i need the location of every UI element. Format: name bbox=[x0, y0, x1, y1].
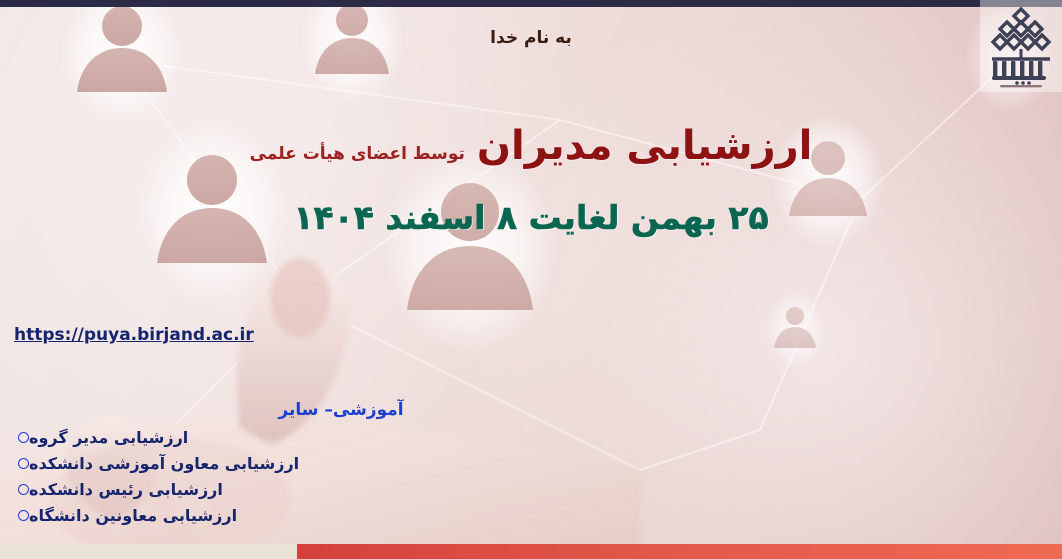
bullet-circle-icon bbox=[18, 510, 29, 521]
date-range-text: ۲۵ بهمن لغایت ۸ اسفند ۱۴۰۴ bbox=[150, 198, 912, 237]
list-item-label: ارزشیابی مدیر گروه bbox=[29, 428, 188, 447]
title-row: ارزشیابی مدیران توسط اعضای هیأت علمی bbox=[150, 124, 912, 168]
list-item[interactable]: ارزشیابی معاون آموزشی دانشکده bbox=[0, 452, 1062, 474]
list-item-label: ارزشیابی معاون آموزشی دانشکده bbox=[29, 454, 299, 473]
bottom-bar-red-segment bbox=[297, 544, 1062, 559]
bismillah-text: به نام خدا bbox=[0, 28, 1062, 48]
page-subtitle: توسط اعضای هیأت علمی bbox=[250, 144, 465, 164]
list-item[interactable]: ارزشیابی مدیر گروه bbox=[0, 426, 1062, 448]
poster-canvas: به نام خدا ارزشیابی مدیران توسط اعضای هی… bbox=[0, 0, 1062, 559]
list-item[interactable]: ارزشیابی رئیس دانشکده bbox=[0, 478, 1062, 500]
list-item[interactable]: ارزشیابی معاونین دانشگاه bbox=[0, 504, 1062, 526]
portal-link[interactable]: https://puya.birjand.ac.ir bbox=[14, 325, 254, 345]
bullet-circle-icon bbox=[18, 458, 29, 469]
bullet-circle-icon bbox=[18, 432, 29, 443]
list-item-label: ارزشیابی معاونین دانشگاه bbox=[29, 506, 237, 525]
top-accent-strip bbox=[0, 0, 1062, 7]
bullet-circle-icon bbox=[18, 484, 29, 495]
category-block: آموزشی– سایر ارزشیابی مدیر گروه ارزشیابی… bbox=[0, 400, 1062, 530]
page-title: ارزشیابی مدیران bbox=[477, 124, 813, 168]
evaluation-list: ارزشیابی مدیر گروه ارزشیابی معاون آموزشی… bbox=[0, 426, 1062, 526]
birjand-university-logo bbox=[980, 0, 1062, 92]
category-heading: آموزشی– سایر bbox=[0, 400, 1062, 420]
bottom-bar-beige-segment bbox=[0, 544, 297, 559]
list-item-label: ارزشیابی رئیس دانشکده bbox=[29, 480, 223, 499]
bottom-accent-bar bbox=[0, 544, 1062, 559]
